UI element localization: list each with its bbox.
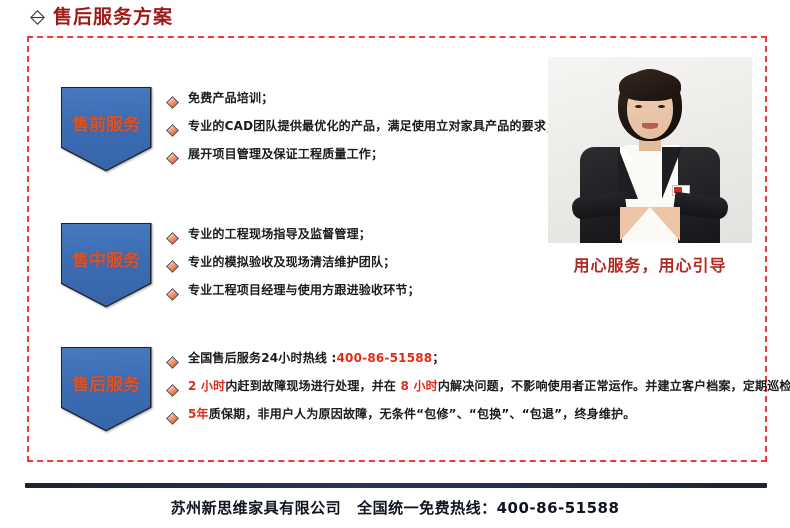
list-item-label: 专业的模拟验收及现场清洁维护团队； xyxy=(188,256,395,269)
section-badge-duringsale: 售中服务 xyxy=(62,224,150,306)
list-item: 免费产品培训； xyxy=(166,92,558,107)
photo-caption: 用心服务，用心引导 xyxy=(548,252,752,276)
list-item: 5年质保期，非用户人为原因故障，无条件“包修”、“包换”、“包退”，终身维护。 xyxy=(166,408,790,423)
list-item: 全国售后服务24小时热线 :400-86-51588； xyxy=(166,352,790,367)
footer-text: 苏州新思维家具有限公司全国统一免费热线：400-86-51588 xyxy=(0,497,790,518)
list-item: 专业工程项目经理与使用方跟进验收环节； xyxy=(166,284,420,299)
footer-company: 苏州新思维家具有限公司 xyxy=(171,499,342,517)
list-item-label: 5年质保期，非用户人为原因故障，无条件“包修”、“包换”、“包退”，终身维护。 xyxy=(188,408,635,421)
diamond-bullet-icon xyxy=(166,122,179,135)
service-section-duringsale: 售中服务 专业的工程现场指导及监督管理； 专业的模拟验收及现场清洁维护团队； xyxy=(62,224,420,306)
list-item-label: 专业工程项目经理与使用方跟进验收环节； xyxy=(188,284,420,297)
footer-hotline-label: 全国统一免费热线： xyxy=(357,499,497,517)
page-title-row: 售后服务方案 xyxy=(30,8,173,27)
diamond-bullet-icon xyxy=(166,258,179,271)
bullet-list-aftersale: 全国售后服务24小时热线 :400-86-51588； 2 小时内赶到故障现场进… xyxy=(166,348,790,423)
photo-fringe xyxy=(619,71,681,101)
footer-divider xyxy=(25,483,767,488)
list-item-label: 专业的CAD团队提供最优化的产品，满足使用立对家具产品的要求； xyxy=(188,120,558,133)
page-title: 售后服务方案 xyxy=(53,8,173,27)
badge-label: 售中服务 xyxy=(62,246,150,271)
diamond-bullet-icon xyxy=(166,410,179,423)
photo-mouth xyxy=(642,123,658,129)
list-item: 专业的模拟验收及现场清洁维护团队； xyxy=(166,256,420,271)
badge-label: 售前服务 xyxy=(62,110,150,135)
list-item-label: 免费产品培训； xyxy=(188,92,273,105)
list-item-label: 展开项目管理及保证工程质量工作； xyxy=(188,148,383,161)
photo-hand-right xyxy=(650,207,680,241)
list-item: 2 小时内赶到故障现场进行处理，并在 8 小时内解决问题，不影响使用者正常运作。… xyxy=(166,380,790,395)
list-item-label: 专业的工程现场指导及监督管理； xyxy=(188,228,371,241)
list-item: 专业的CAD团队提供最优化的产品，满足使用立对家具产品的要求； xyxy=(166,120,558,135)
service-staff-photo xyxy=(548,57,752,243)
service-section-presale: 售前服务 免费产品培训； 专业的CAD团队提供最优化的产品，满足使用立对家具产品… xyxy=(62,88,558,170)
diamond-bullet-icon xyxy=(166,286,179,299)
diamond-bullet-icon xyxy=(166,354,179,367)
diamond-bullet-icon xyxy=(166,94,179,107)
section-badge-aftersale: 售后服务 xyxy=(62,348,150,430)
list-item: 展开项目管理及保证工程质量工作； xyxy=(166,148,558,163)
photo-hand-left xyxy=(620,207,650,241)
bullet-list-presale: 免费产品培训； 专业的CAD团队提供最优化的产品，满足使用立对家具产品的要求； … xyxy=(166,88,558,163)
diamond-bullet-icon xyxy=(166,230,179,243)
diamond-bullet-icon xyxy=(166,150,179,163)
list-item-label: 全国售后服务24小时热线 :400-86-51588； xyxy=(188,352,445,365)
photo-eye-right xyxy=(658,105,665,108)
bullet-list-duringsale: 专业的工程现场指导及监督管理； 专业的模拟验收及现场清洁维护团队； 专业工程项目… xyxy=(166,224,420,299)
service-section-aftersale: 售后服务 全国售后服务24小时热线 :400-86-51588； 2 小时内赶到… xyxy=(62,348,790,430)
footer-hotline-number: 400-86-51588 xyxy=(497,499,620,517)
diamond-bullet-icon xyxy=(166,382,179,395)
photo-eye-left xyxy=(635,105,642,108)
list-item: 专业的工程现场指导及监督管理； xyxy=(166,228,420,243)
badge-label: 售后服务 xyxy=(62,370,150,395)
list-item-label: 2 小时内赶到故障现场进行处理，并在 8 小时内解决问题，不影响使用者正常运作。… xyxy=(188,380,790,393)
diamond-line-icon xyxy=(30,10,45,25)
section-badge-presale: 售前服务 xyxy=(62,88,150,170)
